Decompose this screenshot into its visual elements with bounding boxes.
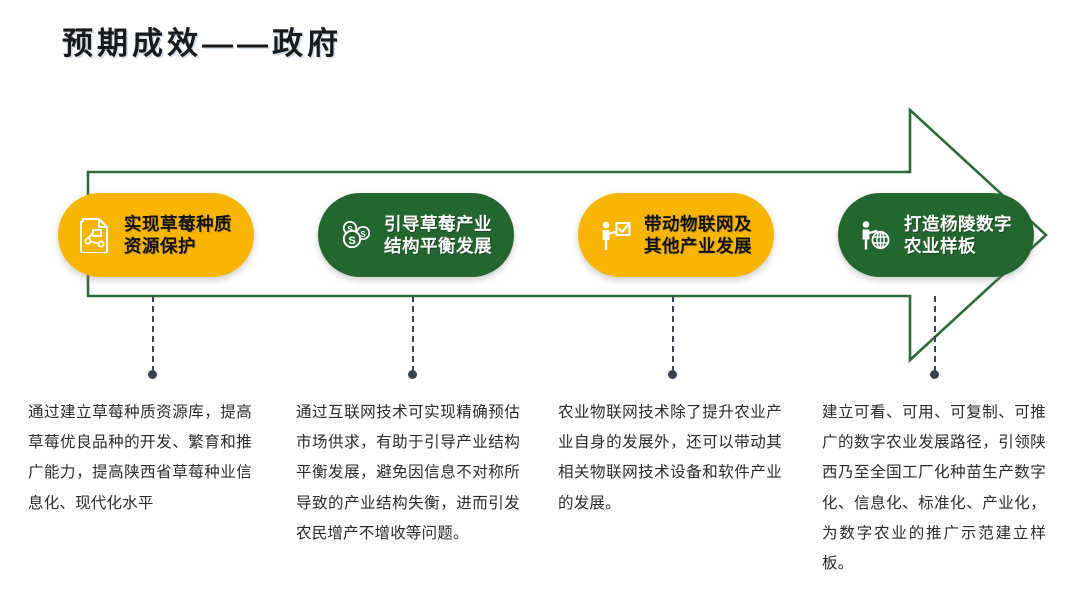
step-pill-label-4: 打造杨陵数字 农业样板 bbox=[904, 213, 1012, 258]
step-pill-label-2: 引导草莓产业 结构平衡发展 bbox=[384, 213, 492, 258]
step-pill-1[interactable]: 实现草莓种质 资源保护 bbox=[58, 193, 254, 277]
connector-line-3 bbox=[672, 296, 674, 372]
svg-text:S: S bbox=[348, 235, 355, 247]
connector-dot-1 bbox=[148, 370, 157, 379]
coins-money-icon: S S S bbox=[338, 216, 372, 254]
person-checklist-icon bbox=[598, 216, 632, 254]
step-description-1: 通过建立草莓种质资源库，提高草莓优良品种的开发、繁育和推广能力，提高陕西省草莓种… bbox=[28, 398, 252, 519]
connector-dot-3 bbox=[668, 370, 677, 379]
step-pill-2[interactable]: S S S 引导草莓产业 结构平衡发展 bbox=[318, 193, 514, 277]
connector-line-4 bbox=[934, 296, 936, 372]
step-pill-3[interactable]: 带动物联网及 其他产业发展 bbox=[578, 193, 774, 277]
person-globe-icon bbox=[858, 216, 892, 254]
connector-line-2 bbox=[412, 296, 414, 372]
connector-dot-4 bbox=[930, 370, 939, 379]
step-description-2: 通过互联网技术可实现精确预估市场供求，有助于引导产业结构平衡发展，避免因信息不对… bbox=[296, 398, 520, 549]
svg-text:S: S bbox=[360, 230, 366, 239]
step-description-3: 农业物联网技术除了提升农业产业自身的发展外，还可以带动其相关物联网技术设备和软件… bbox=[558, 398, 782, 519]
step-pill-label-3: 带动物联网及 其他产业发展 bbox=[644, 213, 752, 258]
document-network-icon bbox=[78, 216, 112, 254]
page-title: 预期成效——政府 bbox=[62, 18, 342, 63]
connector-line-1 bbox=[152, 296, 154, 372]
step-pill-label-1: 实现草莓种质 资源保护 bbox=[124, 213, 232, 258]
connector-dot-2 bbox=[408, 370, 417, 379]
step-description-4: 建立可看、可用、可复制、可推广的数字农业发展路径，引领陕西乃至全国工厂化种苗生产… bbox=[822, 398, 1046, 579]
step-pill-4[interactable]: 打造杨陵数字 农业样板 bbox=[838, 193, 1034, 277]
svg-text:S: S bbox=[347, 225, 353, 234]
